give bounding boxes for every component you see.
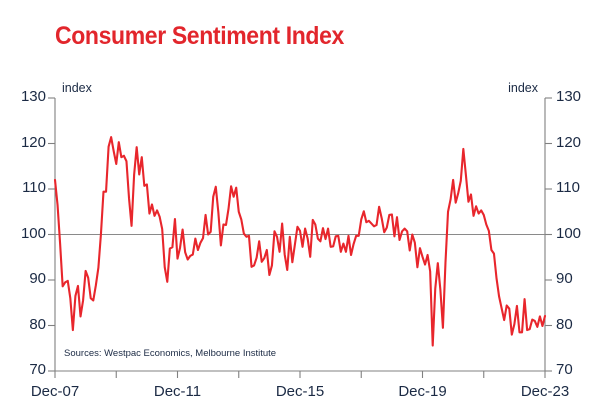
y-axis-tick-label: 90 (556, 270, 594, 287)
y-axis-tick-label: 80 (556, 316, 594, 333)
y-axis-tick-label: 100 (10, 225, 46, 242)
y-axis-unit-left: index (62, 81, 93, 95)
y-axis-tick-label: 100 (556, 225, 594, 242)
y-axis-tick-label: 110 (556, 179, 594, 196)
chart-page: Consumer Sentiment Index index index Sou… (0, 0, 600, 420)
y-axis-tick-label: 120 (556, 134, 594, 151)
y-axis-tick-label: 130 (10, 88, 46, 105)
y-axis-tick-label: 110 (10, 179, 46, 196)
series-line-consumer-sentiment (55, 137, 545, 345)
y-axis-tick-label: 120 (10, 134, 46, 151)
y-axis-tick-label: 70 (556, 361, 594, 378)
x-axis-tick-label: Dec-07 (10, 383, 100, 400)
x-axis-tick-label: Dec-19 (378, 383, 468, 400)
consumer-sentiment-line-chart: index index Sources: Westpac Economics, … (0, 0, 600, 420)
x-axis-tick-label: Dec-15 (255, 383, 345, 400)
y-axis-unit-right: index (508, 81, 539, 95)
x-axis-ticks (55, 371, 545, 378)
x-axis-tick-label: Dec-23 (500, 383, 590, 400)
y-axis-tick-label: 70 (10, 361, 46, 378)
y-axis-tick-label: 130 (556, 88, 594, 105)
source-note: Sources: Westpac Economics, Melbourne In… (64, 348, 276, 359)
y-axis-tick-label: 80 (10, 316, 46, 333)
x-axis-tick-label: Dec-11 (133, 383, 223, 400)
y-axis-tick-label: 90 (10, 270, 46, 287)
